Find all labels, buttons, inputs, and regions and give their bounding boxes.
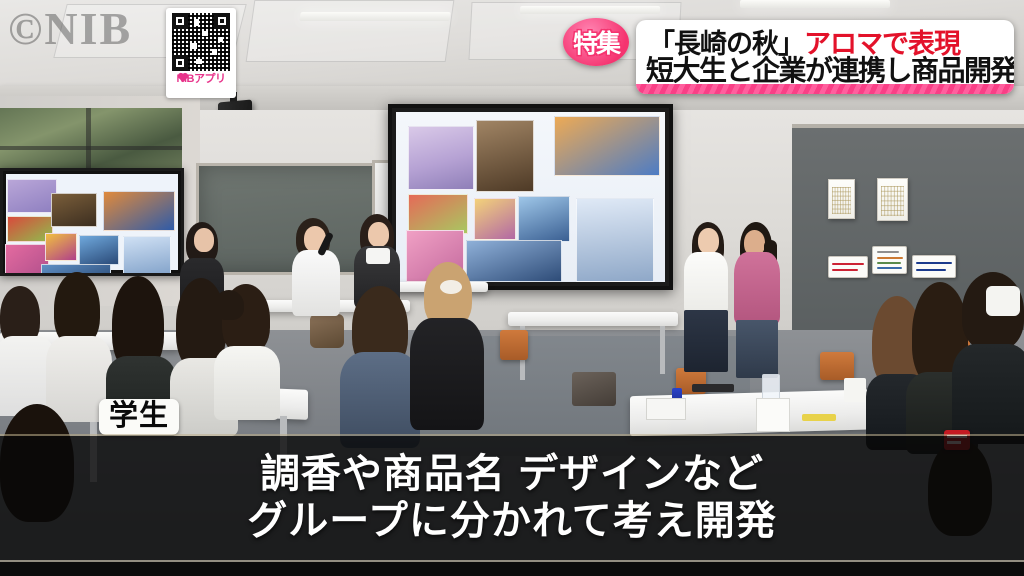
worksheet: [756, 398, 790, 432]
special-feature-badge: 特集: [563, 18, 629, 66]
chair: [500, 330, 528, 360]
phone: [692, 384, 734, 392]
window-mullion: [0, 146, 182, 150]
table: [508, 312, 678, 326]
hair-scrunchie: [440, 280, 462, 294]
broadcast-screenshot: ©NIB NiBアプリ 特集 「長崎の秋」アロマで表現 短大生と企業が連携し商品…: [0, 0, 1024, 576]
qr-code[interactable]: [172, 13, 230, 71]
paper: [646, 398, 686, 420]
chair: [820, 352, 854, 380]
wall-monitor: [0, 168, 184, 276]
badge-label: 特集: [573, 24, 619, 60]
app-qr-block[interactable]: NiBアプリ: [166, 8, 236, 98]
name-tag-label: 学生: [109, 400, 169, 432]
headline-line-2: 短大生と企業が連携し商品開発: [646, 53, 1006, 85]
wall-poster: [877, 178, 908, 221]
projection-screen: [388, 104, 673, 290]
wall-poster: [828, 179, 855, 219]
ceiling-light: [520, 6, 661, 14]
ceiling-light: [740, 0, 890, 8]
subtitle-line-1: 調香や商品名 デザインなど: [260, 452, 764, 497]
speaker-name-tag: 学生: [99, 399, 179, 435]
face-mask: [986, 286, 1020, 316]
cup: [762, 374, 780, 400]
marker-pen: [802, 414, 836, 421]
ceiling-light: [299, 12, 451, 21]
subtitle-line-2: グループに分かれて考え開発: [247, 499, 776, 544]
station-watermark: ©NIB: [8, 2, 132, 55]
projection-content: [396, 112, 665, 282]
headline-stripe: [636, 84, 1014, 94]
equipment-box: [572, 372, 616, 406]
room-info-sign: [872, 246, 907, 274]
classroom-221-sign: [912, 255, 956, 278]
letterbox-bar: [0, 562, 1024, 576]
subtitle-band: 調香や商品名 デザインなど グループに分かれて考え開発: [0, 436, 1024, 560]
no-food-sign: [828, 256, 868, 278]
headline-banner: 「長崎の秋」アロマで表現 短大生と企業が連携し商品開発: [636, 20, 1014, 94]
ceiling-panel: [246, 0, 455, 62]
paper: [844, 378, 866, 402]
handbag: [310, 314, 344, 348]
